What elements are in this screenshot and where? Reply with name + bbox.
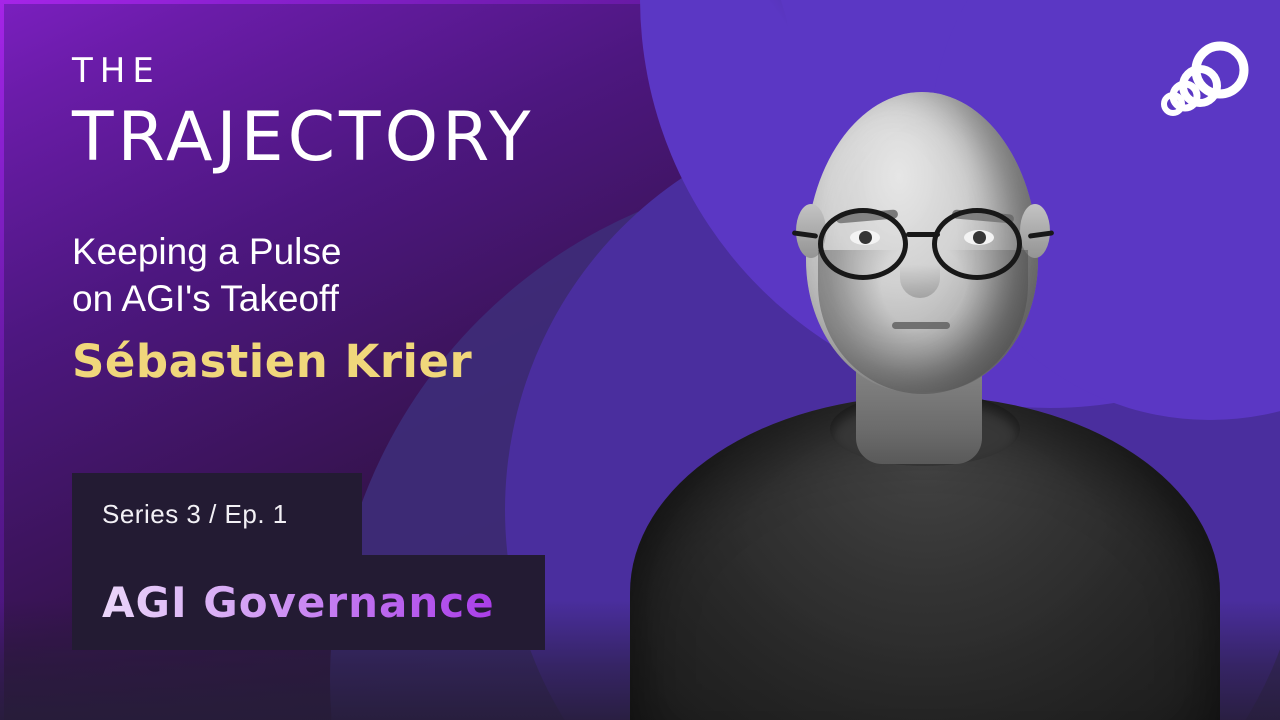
guest-portrait — [604, 44, 1244, 720]
topic-label: AGI Governance — [102, 578, 495, 627]
topic-badge: AGI Governance — [72, 555, 545, 650]
episode-title: Keeping a Pulse on AGI's Takeoff — [72, 228, 592, 323]
brand-kicker: THE — [72, 54, 592, 88]
episode-title-line-1: Keeping a Pulse — [72, 228, 592, 275]
portrait-glasses-icon — [810, 208, 1038, 280]
overlapping-rings-logo-icon — [1148, 38, 1256, 130]
guest-name: Sébastien Krier — [72, 337, 592, 387]
glasses-lens-left — [818, 208, 908, 280]
portrait-mouth — [892, 322, 950, 329]
series-episode-label: Series 3 / Ep. 1 — [102, 499, 288, 530]
video-thumbnail: THE TRAJECTORY Keeping a Pulse on AGI's … — [0, 0, 1280, 720]
glasses-lens-right — [932, 208, 1022, 280]
title-block: THE TRAJECTORY Keeping a Pulse on AGI's … — [72, 0, 592, 386]
series-episode-badge: Series 3 / Ep. 1 — [72, 473, 362, 555]
episode-title-line-2: on AGI's Takeoff — [72, 275, 592, 322]
glasses-bridge — [906, 232, 940, 237]
portrait-image — [604, 44, 1244, 720]
brand-wordmark: TRAJECTORY — [72, 104, 592, 172]
